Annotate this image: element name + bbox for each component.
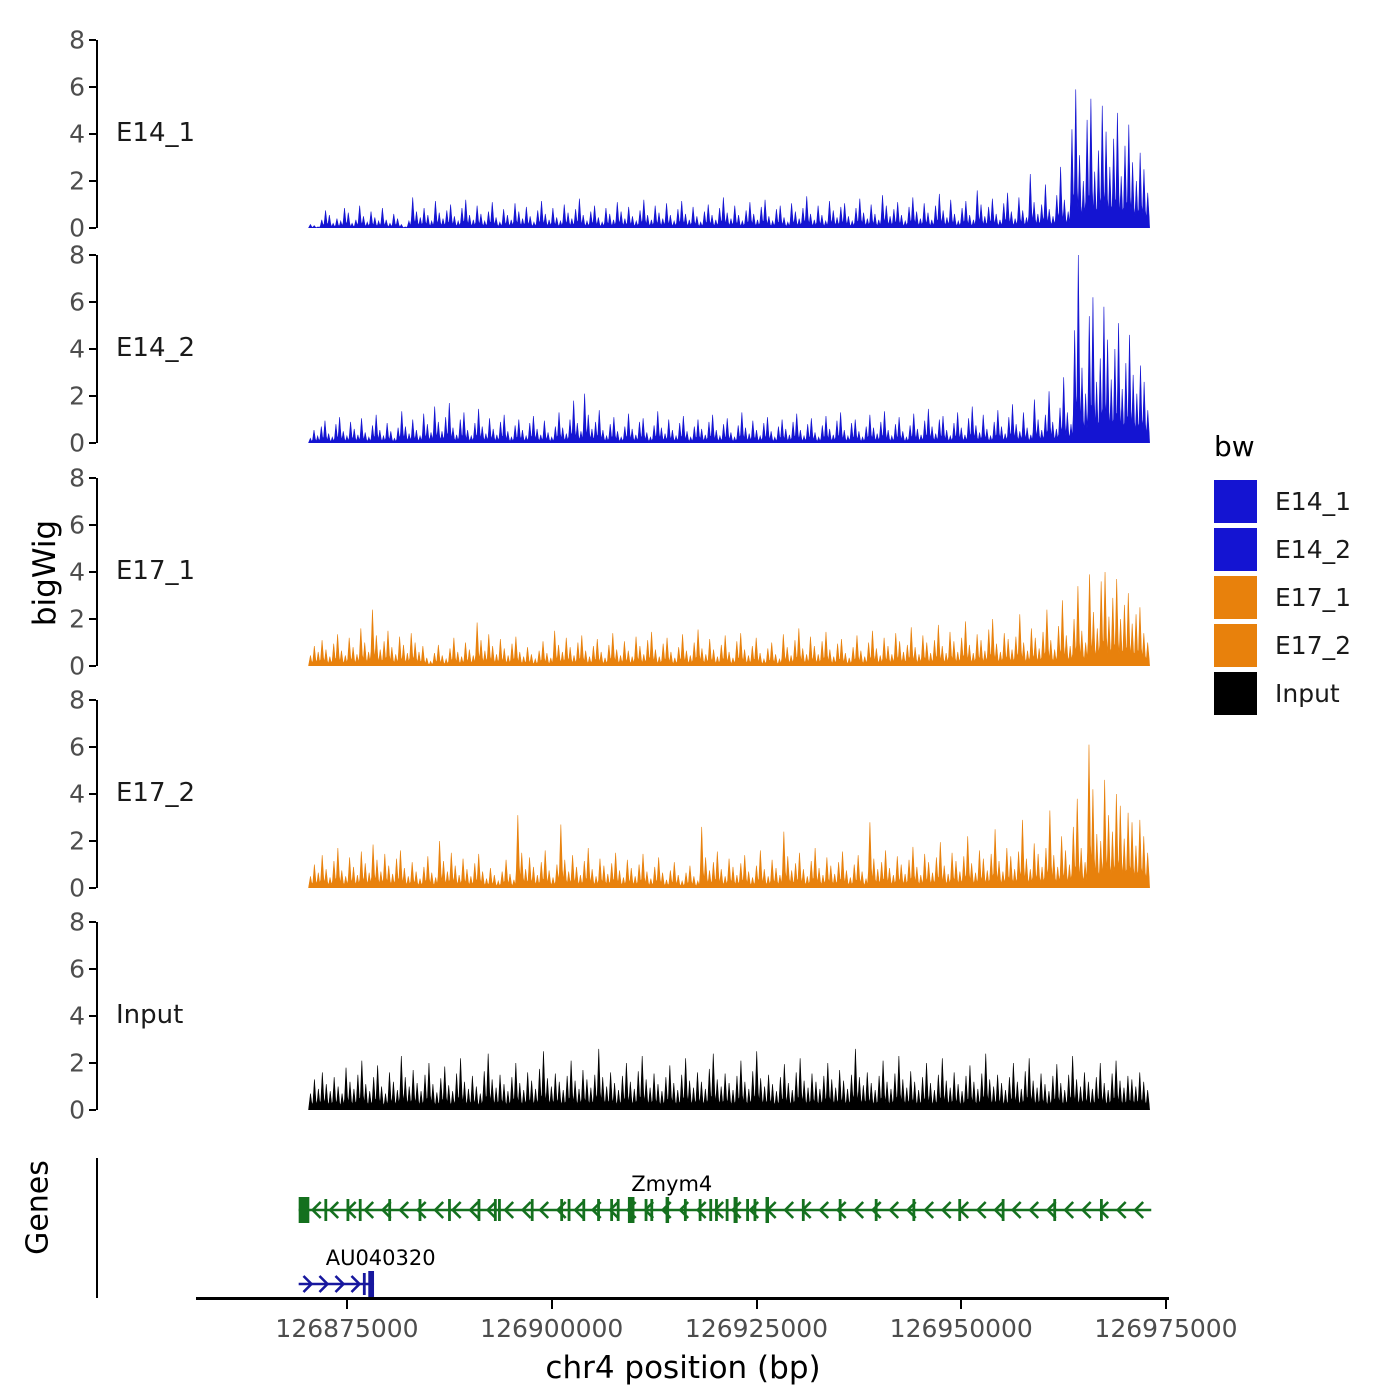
y-tick-label: 2	[69, 1049, 85, 1078]
gene-name-label-au040320: AU040320	[326, 1246, 436, 1270]
y-tick-label: 6	[69, 733, 85, 762]
y-tick	[89, 571, 96, 573]
gene-exon-thick	[368, 1271, 374, 1297]
gene-exon-thin	[363, 1273, 366, 1295]
y-tick-label: 4	[69, 335, 85, 364]
legend-rows: E14_1E14_2E17_1E17_2Input	[1214, 477, 1351, 717]
y-tick	[89, 1109, 96, 1111]
x-tick-label: 126875000	[275, 1314, 418, 1343]
y-tick	[89, 746, 96, 748]
y-tick	[89, 699, 96, 701]
legend-swatch-e14_2	[1214, 528, 1257, 571]
y-axis-title: bigWig	[27, 483, 63, 663]
coverage-area-e17_1	[98, 478, 1171, 666]
gene-exon-thin	[560, 1199, 563, 1221]
y-tick	[89, 348, 96, 350]
y-tick-label: 8	[69, 464, 85, 493]
gene-track-panel: Zmym4AU040320	[96, 1158, 1171, 1298]
legend: bw E14_1E14_2E17_1E17_2Input	[1214, 430, 1351, 717]
gene-exon-thin	[324, 1199, 327, 1221]
gene-exon-thin	[568, 1199, 571, 1221]
y-tick-label: 4	[69, 780, 85, 809]
x-tick-label: 126975000	[1094, 1314, 1237, 1343]
genes-axis-title: Genes	[21, 1128, 56, 1288]
y-tick	[89, 1062, 96, 1064]
coverage-area-e14_1	[98, 40, 1171, 228]
gene-exon-thin	[726, 1199, 729, 1221]
legend-label: E17_1	[1275, 583, 1351, 612]
coverage-area-e17_2	[98, 700, 1171, 888]
track-panel-input: 02468Input	[96, 922, 1171, 1110]
y-tick	[89, 442, 96, 444]
y-tick-label: 0	[69, 652, 85, 681]
track-panel-e17_2: 02468E17_2	[96, 700, 1171, 888]
y-tick	[89, 477, 96, 479]
gene-exon-thin	[531, 1199, 534, 1221]
gene-exon-thick	[666, 1197, 670, 1223]
y-tick-label: 8	[69, 241, 85, 270]
x-tick-label: 126900000	[480, 1314, 623, 1343]
coverage-plot-input	[98, 922, 1171, 1110]
x-tick-label: 126950000	[890, 1314, 1033, 1343]
y-tick-label: 6	[69, 288, 85, 317]
x-tick-label: 126925000	[685, 1314, 828, 1343]
y-tick	[89, 86, 96, 88]
y-tick	[89, 301, 96, 303]
legend-item-e17_1[interactable]: E17_1	[1214, 573, 1351, 621]
legend-label: E14_2	[1275, 535, 1351, 564]
y-tick	[89, 840, 96, 842]
coverage-area-input	[98, 922, 1171, 1110]
track-panel-e14_1: 02468E14_1	[96, 40, 1171, 228]
y-tick-label: 8	[69, 26, 85, 55]
x-tick	[756, 1300, 758, 1309]
y-tick-label: 8	[69, 908, 85, 937]
x-axis-title: chr4 position (bp)	[545, 1350, 820, 1386]
x-axis-line	[196, 1297, 1169, 1300]
coverage-plot-e17_2	[98, 700, 1171, 888]
y-tick	[89, 793, 96, 795]
y-tick-label: 4	[69, 558, 85, 587]
gene-exon-thin	[498, 1199, 501, 1221]
y-tick-label: 2	[69, 382, 85, 411]
legend-item-e14_2[interactable]: E14_2	[1214, 525, 1351, 573]
y-tick	[89, 254, 96, 256]
y-tick	[89, 921, 96, 923]
gene-exon-thick	[299, 1197, 310, 1223]
y-tick-label: 0	[69, 214, 85, 243]
coverage-plot-e14_2	[98, 255, 1171, 443]
legend-title: bw	[1214, 430, 1351, 463]
y-tick-label: 0	[69, 429, 85, 458]
track-panel-e17_1: 02468E17_1	[96, 478, 1171, 666]
coverage-plot-e17_1	[98, 478, 1171, 666]
legend-swatch-e17_2	[1214, 624, 1257, 667]
legend-swatch-input	[1214, 672, 1257, 715]
legend-item-e17_2[interactable]: E17_2	[1214, 621, 1351, 669]
legend-label: E17_2	[1275, 631, 1351, 660]
plot-root: bigWig Genes 02468E14_102468E14_202468E1…	[0, 0, 1400, 1400]
y-tick-label: 2	[69, 605, 85, 634]
y-tick-label: 8	[69, 686, 85, 715]
y-tick	[89, 968, 96, 970]
y-tick	[89, 1015, 96, 1017]
x-tick	[1165, 1300, 1167, 1309]
coverage-area-e14_2	[98, 255, 1171, 443]
y-tick-label: 2	[69, 167, 85, 196]
y-tick-label: 6	[69, 511, 85, 540]
y-tick	[89, 395, 96, 397]
gene-name-label-zmym4: Zmym4	[631, 1172, 712, 1196]
y-tick	[89, 887, 96, 889]
gene-exon-thin	[709, 1199, 712, 1221]
y-tick-label: 4	[69, 1002, 85, 1031]
legend-item-input[interactable]: Input	[1214, 669, 1351, 717]
y-tick-label: 4	[69, 120, 85, 149]
x-tick	[551, 1300, 553, 1309]
legend-item-e14_1[interactable]: E14_1	[1214, 477, 1351, 525]
y-tick	[89, 524, 96, 526]
y-tick	[89, 180, 96, 182]
y-tick-label: 6	[69, 955, 85, 984]
gene-exon-thin	[754, 1199, 757, 1221]
legend-swatch-e17_1	[1214, 576, 1257, 619]
y-tick-label: 0	[69, 1096, 85, 1125]
coverage-plot-e14_1	[98, 40, 1171, 228]
y-tick	[89, 39, 96, 41]
y-tick-label: 6	[69, 73, 85, 102]
x-tick	[346, 1300, 348, 1309]
y-tick	[89, 227, 96, 229]
track-panel-e14_2: 02468E14_2	[96, 255, 1171, 443]
legend-label: E14_1	[1275, 487, 1351, 516]
gene-exon-thin	[359, 1199, 362, 1221]
gene-exon-thin	[448, 1199, 451, 1221]
y-tick-label: 0	[69, 874, 85, 903]
x-tick	[960, 1300, 962, 1309]
y-tick	[89, 133, 96, 135]
y-tick	[89, 665, 96, 667]
gene-exon-thin	[875, 1199, 878, 1221]
y-tick	[89, 618, 96, 620]
legend-label: Input	[1275, 679, 1340, 708]
y-tick-label: 2	[69, 827, 85, 856]
legend-swatch-e14_1	[1214, 480, 1257, 523]
